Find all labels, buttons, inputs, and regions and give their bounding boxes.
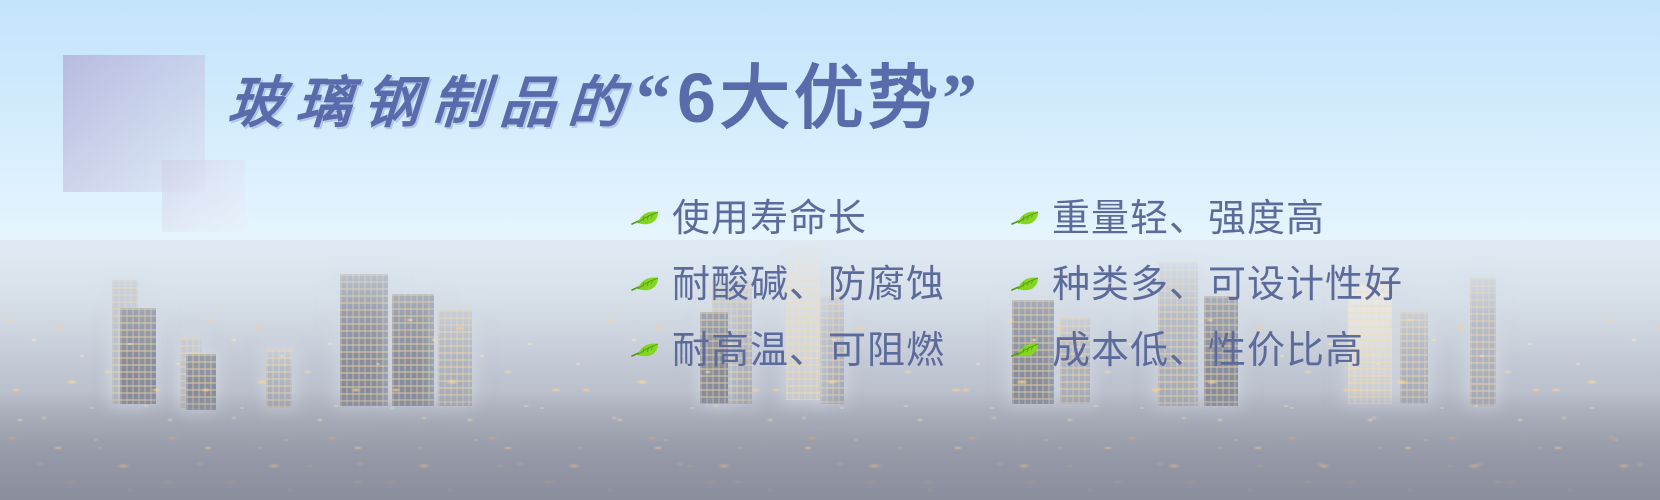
promotional-banner: 玻璃钢制品的 “ 6大优势 ” 使用寿命长 重量轻、强度高 <box>0 0 1660 500</box>
leaf-icon <box>630 209 660 229</box>
title-prefix: 玻璃钢制品的 <box>226 75 638 131</box>
foreground-cityscape <box>0 390 1660 500</box>
feature-item-1: 使用寿命长 <box>630 200 1010 238</box>
feature-label: 耐高温、可阻燃 <box>672 332 945 370</box>
feature-label: 耐酸碱、防腐蚀 <box>672 266 945 304</box>
leaf-icon <box>630 341 660 361</box>
feature-item-6: 成本低、性价比高 <box>1010 332 1410 370</box>
feature-item-4: 种类多、可设计性好 <box>1010 266 1410 304</box>
leaf-icon <box>630 275 660 295</box>
quote-close: ” <box>942 65 977 135</box>
building <box>1470 278 1496 406</box>
feature-label: 成本低、性价比高 <box>1052 332 1364 370</box>
leaf-icon <box>1010 341 1040 361</box>
feature-label: 种类多、可设计性好 <box>1052 266 1403 304</box>
page-title: 玻璃钢制品的 “ 6大优势 ” <box>228 63 977 135</box>
leaf-icon <box>1010 209 1040 229</box>
feature-item-3: 耐酸碱、防腐蚀 <box>630 266 1010 304</box>
feature-list: 使用寿命长 重量轻、强度高 耐酸碱、防腐蚀 <box>630 186 1410 384</box>
quote-open: “ <box>636 65 671 135</box>
feature-label: 使用寿命长 <box>672 200 867 238</box>
feature-item-2: 重量轻、强度高 <box>1010 200 1410 238</box>
feature-label: 重量轻、强度高 <box>1052 200 1325 238</box>
building <box>340 274 388 406</box>
decorative-square-small <box>162 160 245 232</box>
title-highlight: 6大优势 <box>677 63 942 133</box>
leaf-icon <box>1010 275 1040 295</box>
feature-item-5: 耐高温、可阻燃 <box>630 332 1010 370</box>
